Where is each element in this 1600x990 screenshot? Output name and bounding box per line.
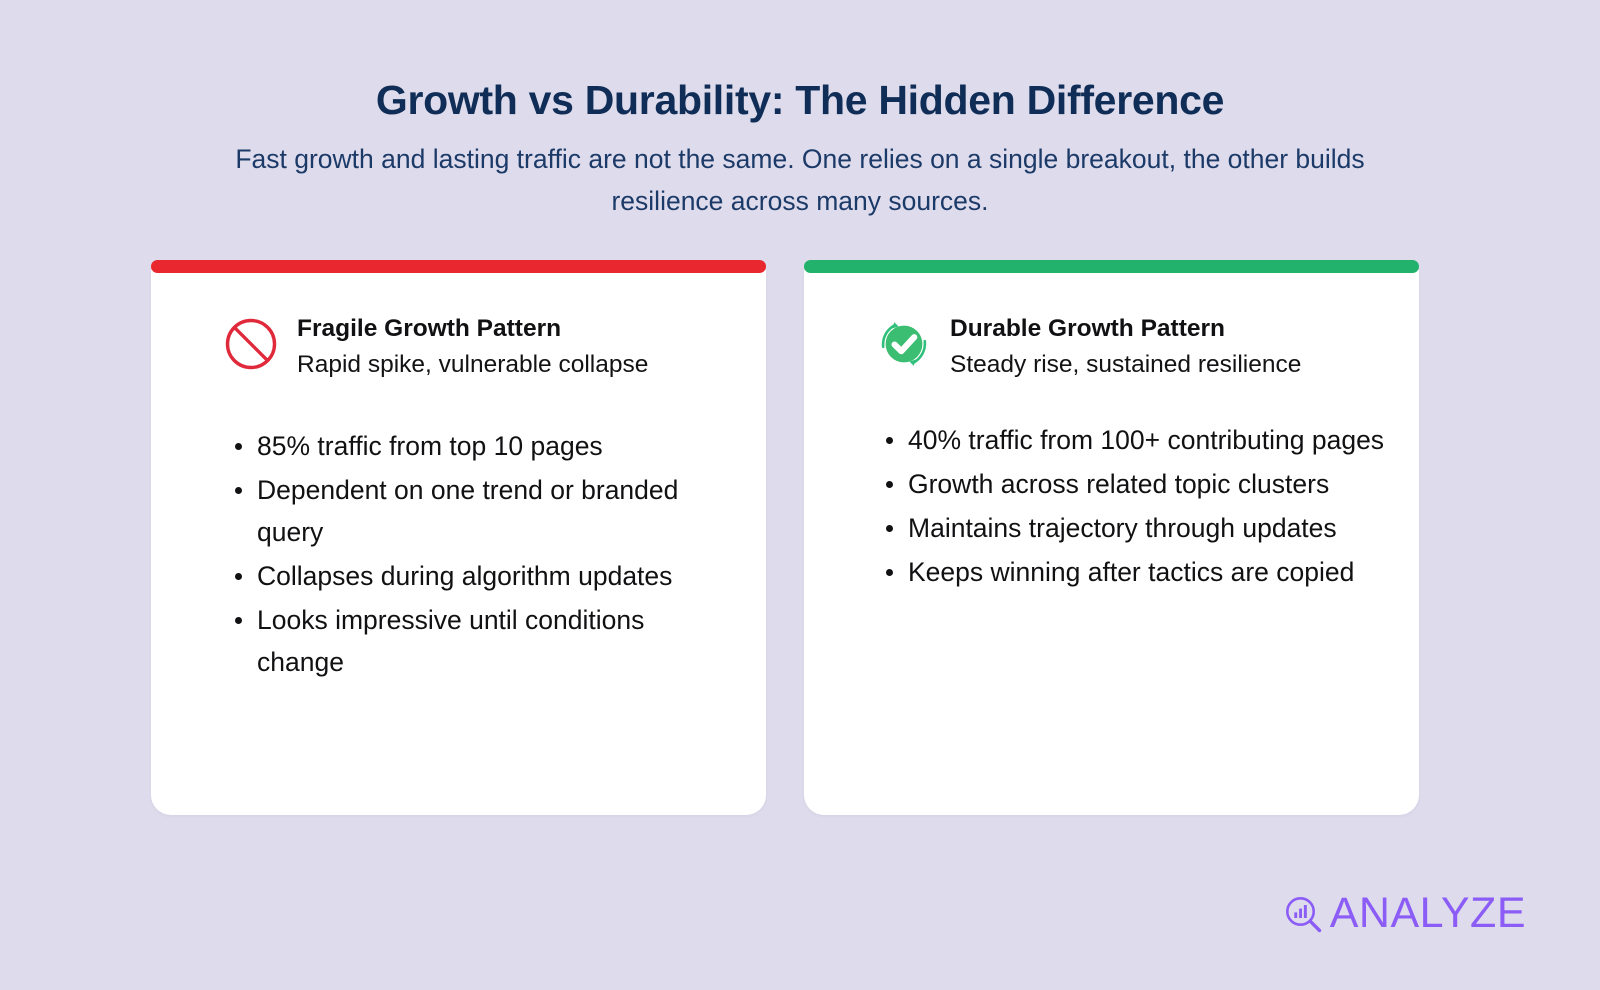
page-title: Growth vs Durability: The Hidden Differe…	[0, 78, 1600, 123]
list-item: Collapses during algorithm updates	[185, 556, 732, 598]
bullet-list-fragile: 85% traffic from top 10 pages Dependent …	[185, 426, 732, 683]
check-circle-cycle-icon	[876, 316, 932, 372]
card-accent-bar-fragile	[151, 260, 766, 273]
card-header-text-durable: Durable Growth Pattern Steady rise, sust…	[950, 312, 1301, 380]
magnifier-bar-chart-icon	[1282, 893, 1324, 935]
card-fragile: Fragile Growth Pattern Rapid spike, vuln…	[151, 260, 766, 815]
card-header-text-fragile: Fragile Growth Pattern Rapid spike, vuln…	[297, 312, 648, 380]
card-accent-bar-durable	[804, 260, 1419, 273]
list-item: Maintains trajectory through updates	[838, 508, 1385, 550]
infographic-page: Growth vs Durability: The Hidden Differe…	[0, 0, 1600, 990]
comparison-cards: Fragile Growth Pattern Rapid spike, vuln…	[151, 260, 1419, 815]
card-body-durable: Durable Growth Pattern Steady rise, sust…	[804, 270, 1419, 815]
card-title-durable: Durable Growth Pattern	[950, 314, 1301, 345]
header: Growth vs Durability: The Hidden Differe…	[0, 78, 1600, 223]
card-header-durable: Durable Growth Pattern Steady rise, sust…	[838, 312, 1385, 380]
card-durable: Durable Growth Pattern Steady rise, sust…	[804, 260, 1419, 815]
card-title-fragile: Fragile Growth Pattern	[297, 314, 648, 345]
list-item: Looks impressive until conditions change	[185, 600, 732, 684]
bullet-list-durable: 40% traffic from 100+ contributing pages…	[838, 420, 1385, 593]
list-item: Dependent on one trend or branded query	[185, 470, 732, 554]
list-item: 40% traffic from 100+ contributing pages	[838, 420, 1385, 462]
list-item: 85% traffic from top 10 pages	[185, 426, 732, 468]
no-entry-icon	[223, 316, 279, 372]
brand-logo: ANALYZE	[1282, 892, 1526, 935]
card-header-fragile: Fragile Growth Pattern Rapid spike, vuln…	[185, 312, 732, 380]
card-subtitle-fragile: Rapid spike, vulnerable collapse	[297, 349, 648, 381]
list-item: Keeps winning after tactics are copied	[838, 552, 1385, 594]
card-body-fragile: Fragile Growth Pattern Rapid spike, vuln…	[151, 270, 766, 815]
page-subtitle: Fast growth and lasting traffic are not …	[185, 139, 1415, 223]
brand-name: ANALYZE	[1330, 892, 1526, 935]
card-subtitle-durable: Steady rise, sustained resilience	[950, 349, 1301, 381]
list-item: Growth across related topic clusters	[838, 464, 1385, 506]
